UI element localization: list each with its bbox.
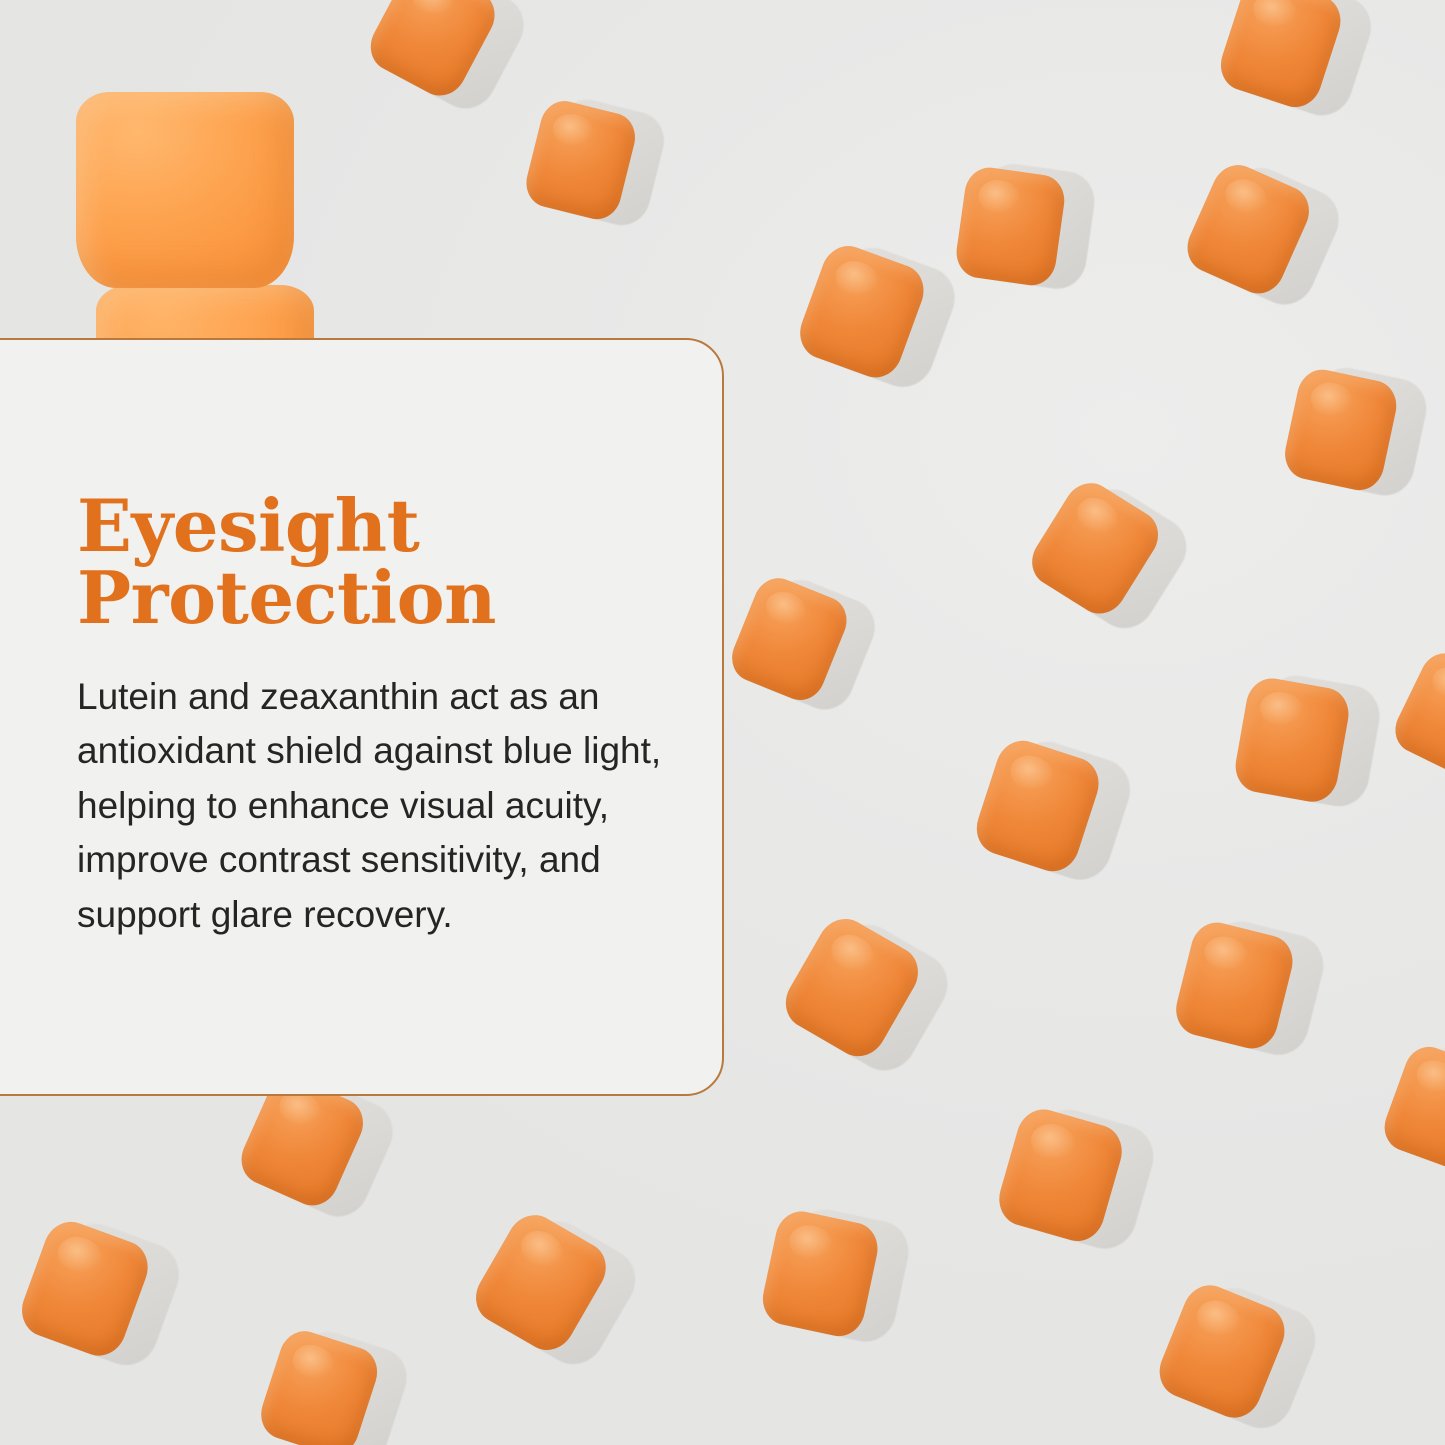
page-title: Eyesight Protection [77,490,677,634]
product-infographic: Eyesight Protection Lutein and zeaxanthi… [0,0,1445,1445]
feature-description: Lutein and zeaxanthin act as an antioxid… [77,670,677,942]
feature-card-content: Eyesight Protection Lutein and zeaxanthi… [77,490,677,942]
feature-card: Eyesight Protection Lutein and zeaxanthi… [0,338,724,1096]
